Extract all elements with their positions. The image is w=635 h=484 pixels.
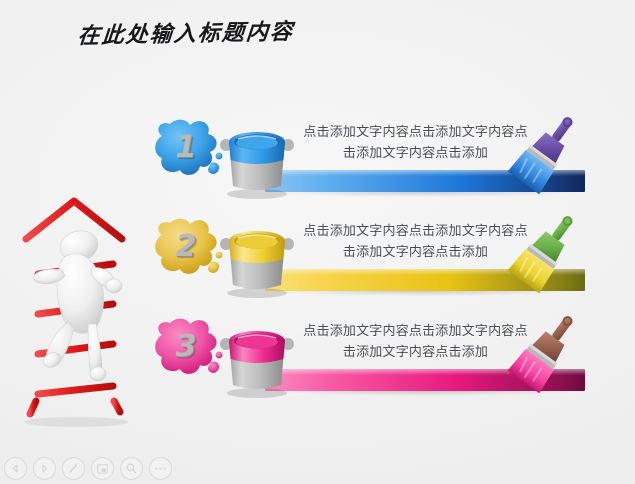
play-icon[interactable] [33,457,56,480]
slide-canvas: 在此处输入标题内容 [0,0,635,484]
paint-brush-icon-1 [500,110,590,198]
paint-brush-icon-3 [500,309,590,397]
search-icon[interactable] [120,457,143,480]
row-text-3: 点击添加文字内容点击添加文字内容点击添加文字内容点击添加 [298,321,533,363]
paint-bucket-icon-1 [214,112,300,200]
page-title: 在此处输入标题内容 [76,14,295,51]
paint-bucket-icon-3 [214,311,300,399]
previous-icon[interactable] [4,457,27,480]
more-icon[interactable] [149,457,172,480]
paint-brush-icon-2 [500,209,590,297]
ladder-illustration [14,196,159,431]
content-row-2[interactable]: 2 点击添加文字内容点击添加文字内容点击添加 [150,207,620,303]
panel-icon[interactable] [91,457,114,480]
paint-bucket-icon-2 [214,211,300,299]
bottom-toolbar[interactable] [4,457,172,480]
row-text-1: 点击添加文字内容点击添加文字内容点击添加文字内容点击添加 [298,122,533,164]
white-3d-man-icon [32,224,140,404]
content-row-3[interactable]: 3 点击添加文字内容点击添加文字内容点击添加 [150,307,620,403]
content-row-1[interactable]: 1 点击添加文字内容点击添加文字内容点击添加 [150,108,620,204]
pencil-icon[interactable] [62,457,85,480]
row-text-2: 点击添加文字内容点击添加文字内容点击添加文字内容点击添加 [298,221,533,263]
